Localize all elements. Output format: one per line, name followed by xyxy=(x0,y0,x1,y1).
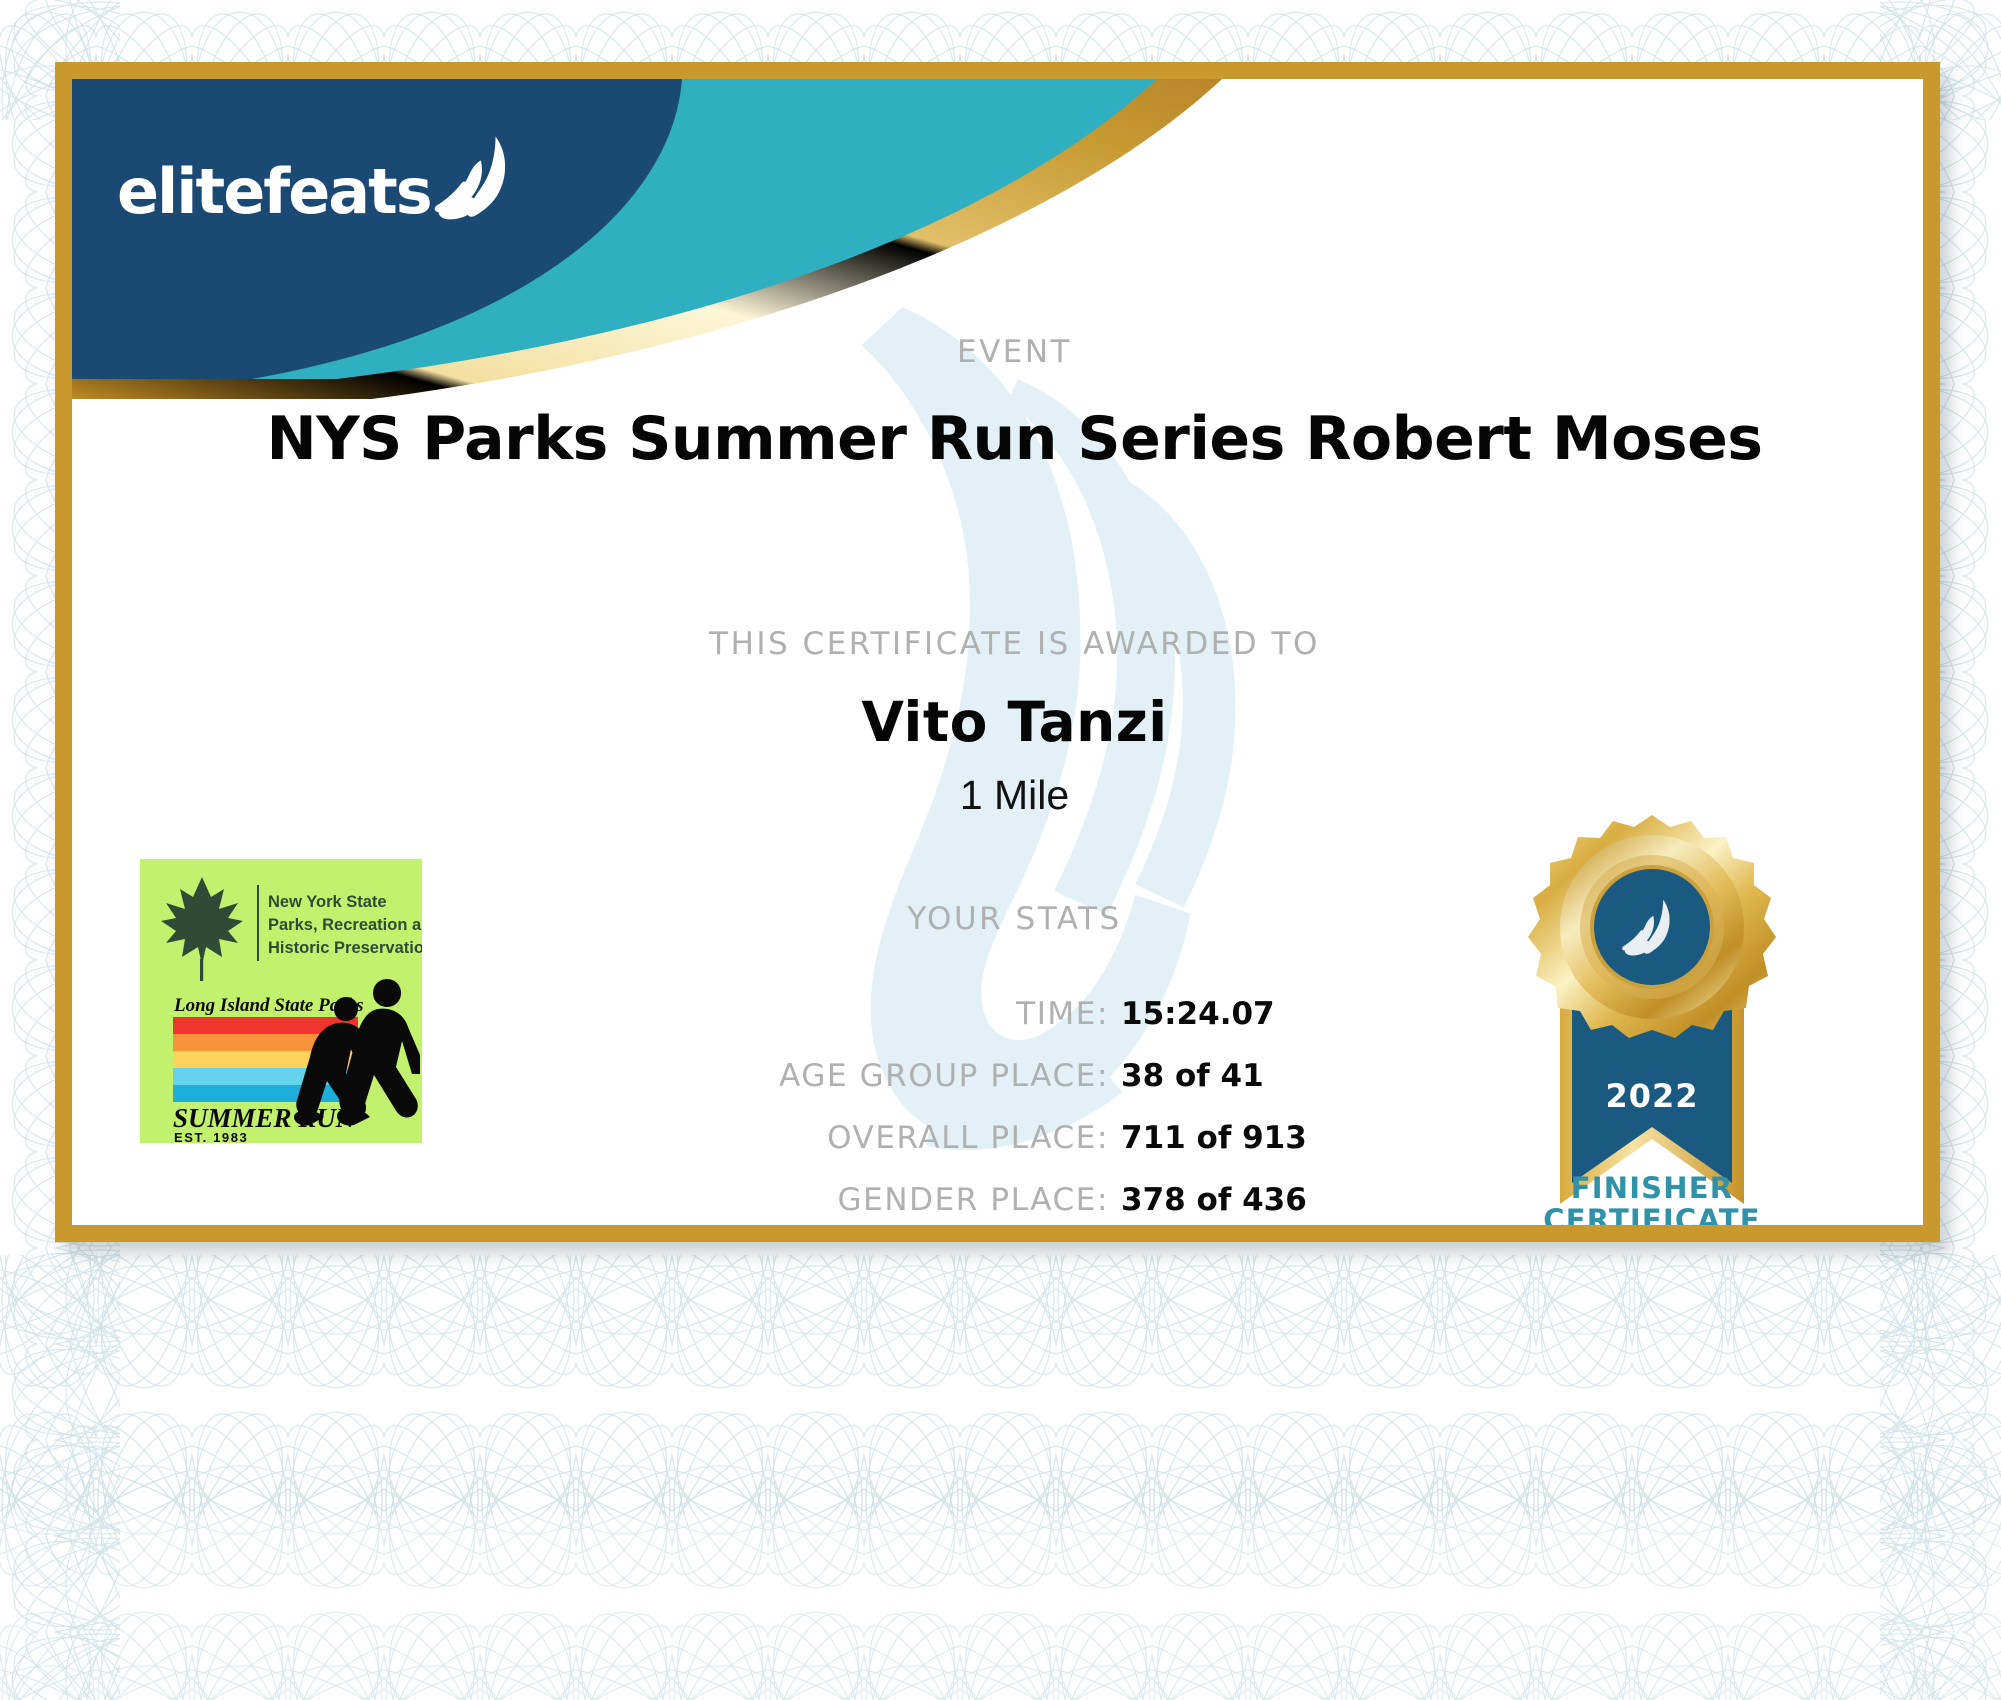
table-row: GENDER PLACE: 378 of 436 xyxy=(655,1169,1375,1231)
sponsor-logo-graphic: New York State Parks, Recreation and His… xyxy=(140,859,422,1143)
event-label: EVENT xyxy=(72,334,1940,370)
certificate-page: elitefeats EVENT NYS Parks Summer Run Se… xyxy=(0,0,2001,1700)
finisher-caption-line1: FINISHER xyxy=(1482,1172,1822,1204)
brand-wordmark: elitefeats xyxy=(117,161,431,223)
sponsor-logo: New York State Parks, Recreation and His… xyxy=(140,859,422,1143)
finisher-caption-line2: CERTIFICATE xyxy=(1482,1204,1822,1236)
stats-table: TIME: 15:24.07 AGE GROUP PLACE: 38 of 41… xyxy=(655,983,1375,1231)
winged-foot-icon xyxy=(433,131,525,223)
table-row: OVERALL PLACE: 711 of 913 xyxy=(655,1107,1375,1169)
sponsor-agency-line3: Historic Preservation xyxy=(268,939,422,957)
stat-value-age-group-place: 38 of 41 xyxy=(1121,1045,1374,1107)
medal-year: 2022 xyxy=(1605,1077,1698,1115)
event-title: NYS Parks Summer Run Series Robert Moses xyxy=(72,404,1940,474)
stat-value-overall-place: 711 of 913 xyxy=(1121,1107,1374,1169)
awarded-to-label: THIS CERTIFICATE IS AWARDED TO xyxy=(72,626,1940,662)
stat-key-gender-place: GENDER PLACE: xyxy=(655,1169,1122,1231)
stat-key-age-group-place: AGE GROUP PLACE: xyxy=(655,1045,1122,1107)
sponsor-agency-line2: Parks, Recreation and xyxy=(268,916,422,934)
elitefeats-logo: elitefeats xyxy=(117,131,525,223)
sponsor-series-title: SUMMER RUN xyxy=(173,1103,357,1133)
sponsor-agency-line1: New York State xyxy=(268,893,387,911)
stat-key-time: TIME: xyxy=(655,983,1122,1045)
sponsor-established: EST. 1983 xyxy=(174,1130,248,1143)
stat-value-time: 15:24.07 xyxy=(1121,983,1374,1045)
recipient-name: Vito Tanzi xyxy=(72,690,1940,754)
table-row: TIME: 15:24.07 xyxy=(655,983,1375,1045)
finisher-certificate-caption: FINISHER CERTIFICATE xyxy=(1482,1172,1822,1237)
stat-value-gender-place: 378 of 436 xyxy=(1121,1169,1374,1231)
table-row: AGE GROUP PLACE: 38 of 41 xyxy=(655,1045,1375,1107)
stat-key-overall-place: OVERALL PLACE: xyxy=(655,1107,1122,1169)
certificate-frame: elitefeats EVENT NYS Parks Summer Run Se… xyxy=(55,62,1940,1242)
